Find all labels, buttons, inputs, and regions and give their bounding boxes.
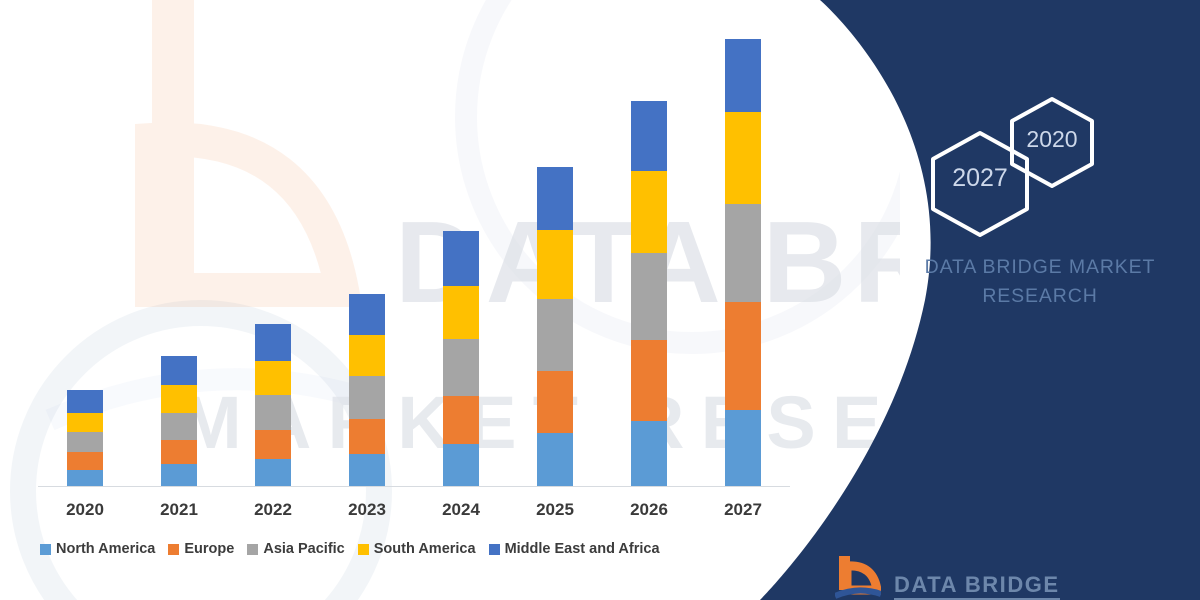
x-axis-tick-label: 2022 xyxy=(228,500,318,520)
bar-segment xyxy=(161,385,197,413)
legend-item-label: Middle East and Africa xyxy=(505,541,660,557)
x-axis-tick-label: 2021 xyxy=(134,500,224,520)
bar-segment xyxy=(537,230,573,298)
bar-group xyxy=(443,231,479,486)
bar-segment xyxy=(443,286,479,339)
bar-segment xyxy=(537,167,573,230)
x-axis-tick-label: 2023 xyxy=(322,500,412,520)
bar-segment xyxy=(255,430,291,459)
x-axis-tick-label: 2025 xyxy=(510,500,600,520)
legend-swatch-north-america xyxy=(40,544,51,555)
bar-segment xyxy=(631,253,667,340)
legend-item-label: Europe xyxy=(184,541,234,557)
x-axis-tick-labels: 20202021202220232024202520262027 xyxy=(38,500,790,528)
bar-segment xyxy=(349,294,385,336)
bar-segment xyxy=(67,390,103,413)
legend-item-label: Asia Pacific xyxy=(263,541,344,557)
footer-logo-text: DATA BRIDGE xyxy=(894,573,1060,600)
bar-segment xyxy=(67,470,103,486)
bar-segment xyxy=(443,396,479,444)
chart-legend: North AmericaEuropeAsia PacificSouth Ame… xyxy=(40,541,660,557)
bar-segment xyxy=(349,454,385,486)
hexagon-2020-label: 2020 xyxy=(1008,126,1096,153)
bar-segment xyxy=(443,231,479,285)
brand-name: DATA BRIDGE MARKET RESEARCH xyxy=(890,253,1190,312)
bar-segment xyxy=(725,112,761,203)
bar-group xyxy=(255,324,291,486)
bar-group xyxy=(349,294,385,487)
legend-swatch-europe xyxy=(168,544,179,555)
legend-item[interactable]: Middle East and Africa xyxy=(489,541,660,557)
bar-segment xyxy=(631,421,667,486)
bar-segment xyxy=(161,413,197,441)
legend-swatch-south-america xyxy=(358,544,369,555)
bar-segment xyxy=(67,413,103,432)
x-axis-tick-label: 2020 xyxy=(40,500,130,520)
legend-item[interactable]: Europe xyxy=(168,541,234,557)
bar-group xyxy=(161,356,197,486)
bar-segment xyxy=(349,376,385,419)
chart-infographic: DATA BR MARKET RESEARCH 2020202120222023… xyxy=(0,0,1200,600)
x-axis-line xyxy=(38,486,790,487)
footer-logo-mark-icon xyxy=(835,556,881,600)
bar-segment xyxy=(725,204,761,303)
brand-line-1: DATA BRIDGE MARKET xyxy=(890,253,1190,282)
bar-segment xyxy=(349,419,385,454)
bar-segment xyxy=(349,335,385,376)
x-axis-tick-label: 2026 xyxy=(604,500,694,520)
stacked-bar-chart: 20202021202220232024202520262027 xyxy=(0,0,800,600)
bar-segment xyxy=(255,395,291,430)
brand-line-2: RESEARCH xyxy=(890,282,1190,311)
bar-segment xyxy=(255,459,291,486)
bar-segment xyxy=(537,371,573,433)
bar-segment xyxy=(537,299,573,371)
bar-segment xyxy=(725,410,761,486)
bar-segment xyxy=(67,432,103,452)
bar-segment xyxy=(67,452,103,470)
legend-item-label: South America xyxy=(374,541,476,557)
legend-item[interactable]: North America xyxy=(40,541,155,557)
legend-item[interactable]: Asia Pacific xyxy=(247,541,344,557)
bar-group xyxy=(631,101,667,486)
bar-segment xyxy=(631,171,667,253)
bar-group xyxy=(725,39,761,486)
bar-segment xyxy=(443,339,479,396)
legend-item-label: North America xyxy=(56,541,155,557)
legend-swatch-asia-pacific xyxy=(247,544,258,555)
bar-segment xyxy=(161,440,197,464)
bar-segment xyxy=(443,444,479,486)
bar-segment xyxy=(255,361,291,395)
footer-logo: DATA BRIDGE xyxy=(835,556,1060,600)
bar-group xyxy=(537,167,573,486)
bar-segment xyxy=(161,356,197,385)
bar-segment xyxy=(631,340,667,421)
bar-segment xyxy=(725,39,761,112)
bar-group xyxy=(67,390,103,486)
legend-swatch-middle-east-africa xyxy=(489,544,500,555)
bar-segment xyxy=(631,101,667,171)
bar-segment xyxy=(725,302,761,410)
plot-area xyxy=(38,30,790,486)
brand-panel: 2027 2020 DATA BRIDGE MARKET RESEARCH DA… xyxy=(760,0,1200,600)
x-axis-tick-label: 2024 xyxy=(416,500,506,520)
bar-segment xyxy=(161,464,197,486)
bar-segment xyxy=(255,324,291,361)
bar-segment xyxy=(537,433,573,486)
legend-item[interactable]: South America xyxy=(358,541,476,557)
